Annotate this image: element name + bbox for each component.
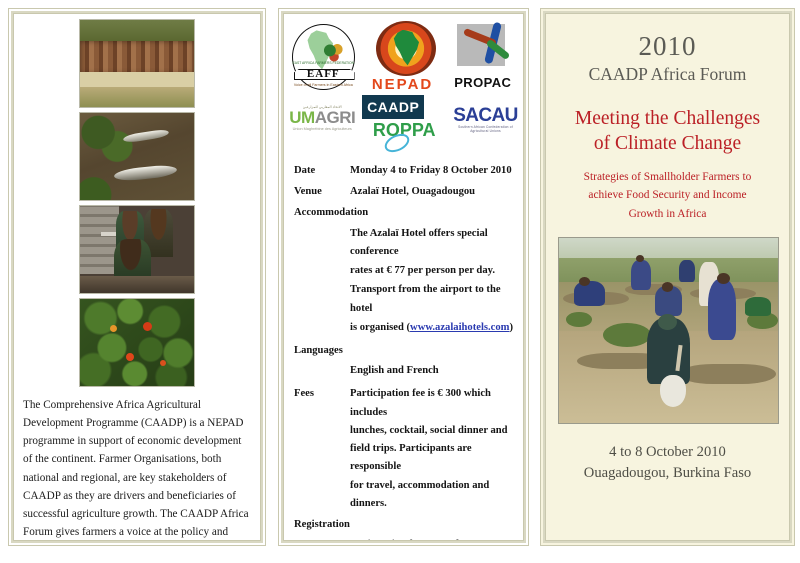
event-forum-name: CAADP Africa Forum xyxy=(558,64,777,85)
nepad-wordmark: NEPAD xyxy=(363,76,443,93)
propac-logo: PROPAC xyxy=(449,22,518,92)
hillside-stone-bunds-photo xyxy=(79,112,195,201)
brochure-sheet: The Comprehensive Africa Agricultural De… xyxy=(0,0,800,563)
right-panel: 2010 CAADP Africa Forum Meeting the Chal… xyxy=(540,8,795,546)
accommodation-line-2: rates at € 77 per person per day. xyxy=(350,262,515,280)
registration-line-1: Registration forms can be downloaded xyxy=(350,536,515,541)
roppa-logo: ROPPA xyxy=(362,120,446,150)
umagri-wordmark-green: UM xyxy=(289,108,314,127)
detail-value-registration: Registration forms can be downloaded fro… xyxy=(350,536,515,541)
event-year: 2010 xyxy=(558,32,777,62)
event-footer: 4 to 8 October 2010 Ouagadougou, Burkina… xyxy=(558,442,777,484)
detail-value-fees: Participation fee is € 300 which include… xyxy=(350,385,515,513)
detail-label-date: Date xyxy=(294,162,350,180)
women-digging-field-photo xyxy=(558,237,779,424)
subtitle-line-1: Strategies of Smallholder Farmers to xyxy=(558,168,777,186)
event-main-title: Meeting the Challenges of Climate Change xyxy=(558,107,777,157)
sacau-sub-text: Southern African Confederation of Agricu… xyxy=(453,125,518,133)
footer-dates: 4 to 8 October 2010 xyxy=(558,442,777,463)
detail-value-venue: Azalaï Hotel, Ouagadougou xyxy=(350,183,515,201)
eaff-abbr: EAFF xyxy=(290,68,357,80)
detail-value-date: Monday 4 to Friday 8 October 2010 xyxy=(350,162,515,180)
detail-value-languages: English and French xyxy=(350,362,515,380)
detail-label-accommodation: Accommodation xyxy=(294,204,515,222)
green-crop-with-red-flowers-photo xyxy=(79,298,195,387)
sacau-logo: SACAU Southern African Confederation of … xyxy=(453,106,518,140)
footer-location: Ouagadougou, Burkina Faso xyxy=(558,463,777,484)
left-photo-grid xyxy=(20,19,254,387)
children-at-water-point-photo xyxy=(79,205,195,294)
fees-line-3: field trips. Participants are responsibl… xyxy=(350,440,515,476)
eaff-logo: EAST AFRICA FARMERS FEDERATION EAFF Voic… xyxy=(290,22,357,92)
event-subtitle: Strategies of Smallholder Farmers to ach… xyxy=(558,168,777,223)
logo-row-top: EAST AFRICA FARMERS FEDERATION EAFF Voic… xyxy=(290,21,517,93)
accommodation-prefix: is organised ( xyxy=(350,322,410,333)
event-details: Date Monday 4 to Friday 8 October 2010 V… xyxy=(294,162,515,541)
fees-line-1: Participation fee is € 300 which include… xyxy=(350,385,515,421)
propac-wordmark: PROPAC xyxy=(449,75,518,90)
middle-panel: EAST AFRICA FARMERS FEDERATION EAFF Voic… xyxy=(278,8,529,546)
accommodation-line-4: is organised (www.azalaihotels.com) xyxy=(350,319,515,337)
caadp-logo: CAADP xyxy=(362,95,424,119)
logo-row-bottom: الاتحاد المغاربي للمزارعين UMAGRI Union … xyxy=(290,95,517,150)
detail-label-venue: Venue xyxy=(294,183,350,201)
caadp-description: The Comprehensive Africa Agricultural De… xyxy=(23,396,251,541)
accommodation-line-1: The Azalaï Hotel offers special conferen… xyxy=(350,225,515,261)
languages-line-1: English and French xyxy=(350,362,515,380)
eaff-arc-text: EAST AFRICA FARMERS FEDERATION xyxy=(290,61,357,65)
detail-row-fees: Fees Participation fee is € 300 which in… xyxy=(294,385,515,513)
detail-row-date: Date Monday 4 to Friday 8 October 2010 xyxy=(294,162,515,180)
paragraph-caadp-overview: The Comprehensive Africa Agricultural De… xyxy=(23,396,251,541)
detail-label-languages: Languages xyxy=(294,342,515,360)
fees-line-4: for travel, accommodation and dinners. xyxy=(350,477,515,513)
detail-row-venue: Venue Azalaï Hotel, Ouagadougou xyxy=(294,183,515,201)
main-title-line-1: Meeting the Challenges xyxy=(558,107,777,132)
fees-line-2: lunches, cocktail, social dinner and xyxy=(350,422,515,440)
azalai-hotels-link[interactable]: www.azalaihotels.com xyxy=(410,322,509,333)
detail-value-accommodation: The Azalaï Hotel offers special conferen… xyxy=(350,225,515,337)
accommodation-suffix: ) xyxy=(510,322,514,333)
accommodation-line-3: Transport from the airport to the hotel xyxy=(350,281,515,317)
subtitle-line-3: Growth in Africa xyxy=(558,205,777,223)
left-panel: The Comprehensive Africa Agricultural De… xyxy=(8,8,266,546)
umagri-logo: الاتحاد المغاربي للمزارعين UMAGRI Union … xyxy=(289,105,355,141)
sacau-wordmark: SACAU xyxy=(453,106,518,125)
eaff-sub-text: Voice of all Farmers in Eastern Africa xyxy=(290,83,357,87)
detail-label-fees: Fees xyxy=(294,385,350,513)
subtitle-line-2: achieve Food Security and Income xyxy=(558,186,777,204)
umagri-sub-text: Union Maghrébine des Agriculteurs xyxy=(289,127,355,131)
umagri-wordmark-grey: AGRI xyxy=(315,108,356,127)
nepad-logo: NEPAD xyxy=(363,21,443,93)
stone-terrace-wall-photo xyxy=(79,19,195,108)
detail-label-registration: Registration xyxy=(294,516,515,534)
main-title-line-2: of Climate Change xyxy=(558,132,777,157)
